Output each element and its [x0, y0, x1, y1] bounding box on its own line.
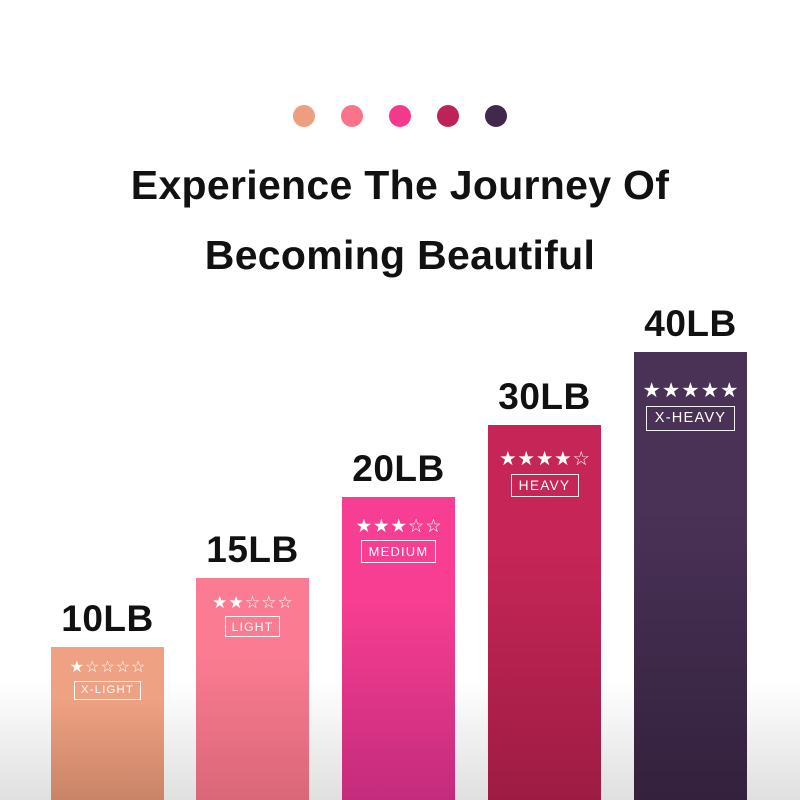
dot-x-heavy — [485, 105, 507, 127]
star-rating: ★★☆☆☆ — [212, 594, 293, 611]
star-rating: ★★★★☆ — [499, 450, 590, 469]
star-filled-icon: ★ — [643, 381, 661, 402]
star-filled-icon: ★ — [701, 381, 719, 402]
bar-group[interactable]: 15LB★★☆☆☆LIGHT — [196, 578, 309, 800]
star-rating: ★☆☆☆☆ — [70, 660, 146, 676]
bar-badge: ★☆☆☆☆X-LIGHT — [51, 660, 164, 700]
bar-group[interactable]: 20LB★★★☆☆MEDIUM — [342, 497, 455, 800]
star-empty-icon: ☆ — [100, 660, 114, 676]
star-filled-icon: ★ — [70, 660, 84, 676]
star-rating: ★★★☆☆ — [356, 517, 442, 535]
star-empty-icon: ☆ — [245, 594, 260, 611]
star-filled-icon: ★ — [536, 450, 553, 469]
star-filled-icon: ★ — [212, 594, 227, 611]
bar-weight-label: 10LB — [51, 599, 164, 639]
grade-badge-label: LIGHT — [225, 616, 281, 637]
star-empty-icon: ☆ — [408, 517, 424, 535]
bar-weight-label: 20LB — [342, 449, 455, 489]
star-empty-icon: ☆ — [85, 660, 99, 676]
grade-badge-label: X-HEAVY — [646, 406, 735, 431]
star-filled-icon: ★ — [681, 381, 699, 402]
star-empty-icon: ☆ — [425, 517, 441, 535]
star-filled-icon: ★ — [228, 594, 243, 611]
grade-badge-label: X-LIGHT — [74, 681, 140, 700]
page-title: Experience The Journey Of Becoming Beaut… — [0, 150, 800, 290]
page-title-line-1: Experience The Journey Of — [0, 150, 800, 220]
grade-badge-label: HEAVY — [511, 474, 579, 497]
dot-light — [341, 105, 363, 127]
star-filled-icon: ★ — [662, 381, 680, 402]
bar-badge: ★★★★★X-HEAVY — [634, 381, 747, 431]
bar-weight-label: 30LB — [488, 377, 601, 417]
star-empty-icon: ☆ — [261, 594, 276, 611]
star-rating: ★★★★★ — [643, 381, 739, 402]
dot-medium — [389, 105, 411, 127]
bar-badge: ★★★☆☆MEDIUM — [342, 517, 455, 563]
bar-group[interactable]: 40LB★★★★★X-HEAVY — [634, 352, 747, 800]
star-filled-icon: ★ — [373, 517, 389, 535]
bar-weight-label: 40LB — [634, 304, 747, 344]
star-filled-icon: ★ — [356, 517, 372, 535]
bar-badge: ★★★★☆HEAVY — [488, 450, 601, 498]
star-empty-icon: ☆ — [573, 450, 590, 469]
star-empty-icon: ☆ — [131, 660, 145, 676]
dot-heavy — [437, 105, 459, 127]
star-filled-icon: ★ — [554, 450, 571, 469]
bar-group[interactable]: 10LB★☆☆☆☆X-LIGHT — [51, 647, 164, 800]
star-empty-icon: ☆ — [116, 660, 130, 676]
bar-group[interactable]: 30LB★★★★☆HEAVY — [488, 425, 601, 800]
star-empty-icon: ☆ — [278, 594, 293, 611]
dot-x-light — [293, 105, 315, 127]
bar-weight-label: 15LB — [196, 530, 309, 570]
color-swatch-dots — [0, 105, 800, 127]
grade-badge-label: MEDIUM — [361, 540, 436, 563]
star-filled-icon: ★ — [517, 450, 534, 469]
star-filled-icon: ★ — [499, 450, 516, 469]
star-filled-icon: ★ — [390, 517, 406, 535]
page-title-line-2: Becoming Beautiful — [0, 220, 800, 290]
star-filled-icon: ★ — [720, 381, 738, 402]
bar-badge: ★★☆☆☆LIGHT — [196, 594, 309, 637]
